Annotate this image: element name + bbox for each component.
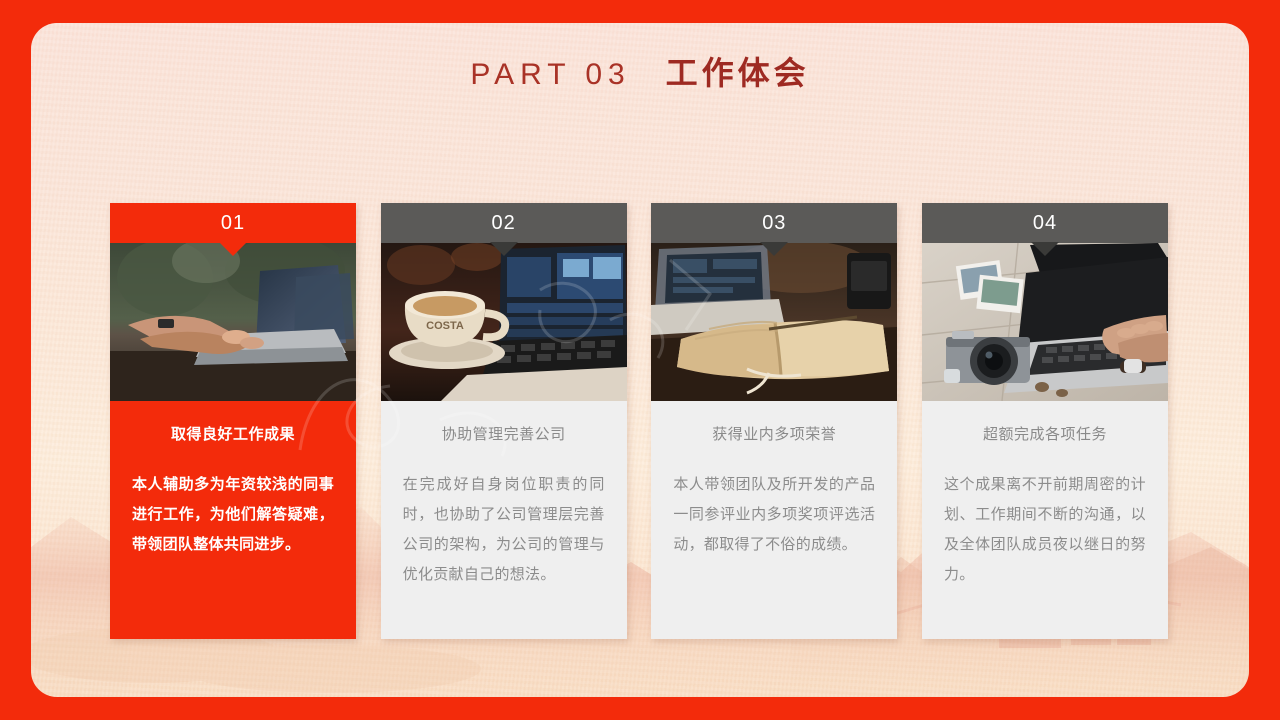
triangle-pointer-icon: [1031, 242, 1059, 256]
triangle-pointer-icon: [490, 242, 518, 256]
card-text-02: 在完成好自身岗位职责的同时，也协助了公司管理层完善公司的架构，为公司的管理与优化…: [399, 470, 609, 590]
card-header-04: 04: [922, 203, 1168, 243]
page-title: PART 03 工作体会: [0, 48, 1280, 94]
card-number-03: 03: [762, 212, 786, 234]
svg-text:COSTA: COSTA: [426, 320, 464, 332]
card-number-01: 01: [221, 212, 245, 234]
card-photo-02: COSTA: [381, 243, 627, 401]
card-body-01: 取得良好工作成果 本人辅助多为年资较浅的同事进行工作，为他们解答疑难，带领团队整…: [110, 401, 356, 639]
content-card-04[interactable]: 04: [922, 203, 1168, 639]
triangle-pointer-icon: [760, 242, 788, 256]
desk-with-camera-and-laptop-icon: [922, 243, 1168, 401]
title-english: PART 03: [470, 58, 630, 91]
slide-canvas: PART 03 工作体会 01: [0, 0, 1280, 720]
card-number-02: 02: [492, 212, 516, 234]
triangle-pointer-icon: [219, 242, 247, 256]
card-title-02: 协助管理完善公司: [399, 423, 609, 444]
content-card-02[interactable]: 02: [381, 203, 627, 639]
card-body-04: 超额完成各项任务 这个成果离不开前期周密的计划、工作期间不断的沟通，以及全体团队…: [922, 401, 1168, 639]
card-photo-01: [110, 243, 356, 401]
card-title-03: 获得业内多项荣誉: [669, 423, 879, 444]
content-card-01[interactable]: 01: [110, 203, 356, 639]
coffee-cup-and-laptop-icon: COSTA: [381, 243, 627, 401]
card-header-01: 01: [110, 203, 356, 243]
card-header-02: 02: [381, 203, 627, 243]
card-photo-04: [922, 243, 1168, 401]
card-title-04: 超额完成各项任务: [940, 423, 1150, 444]
content-card-03[interactable]: 03: [651, 203, 897, 639]
card-text-03: 本人带领团队及所开发的产品一同参评业内多项奖项评选活动，都取得了不俗的成绩。: [669, 470, 879, 560]
card-body-02: 协助管理完善公司 在完成好自身岗位职责的同时，也协助了公司管理层完善公司的架构，…: [381, 401, 627, 639]
card-header-03: 03: [651, 203, 897, 243]
hands-typing-on-laptop-icon: [110, 243, 356, 401]
card-number-04: 04: [1033, 212, 1057, 234]
notebook-on-desk-icon: [651, 243, 897, 401]
card-title-01: 取得良好工作成果: [128, 423, 338, 444]
title-chinese: 工作体会: [666, 55, 810, 91]
card-text-01: 本人辅助多为年资较浅的同事进行工作，为他们解答疑难，带领团队整体共同进步。: [128, 470, 338, 560]
card-row: 01: [110, 203, 1168, 639]
card-body-03: 获得业内多项荣誉 本人带领团队及所开发的产品一同参评业内多项奖项评选活动，都取得…: [651, 401, 897, 639]
card-text-04: 这个成果离不开前期周密的计划、工作期间不断的沟通，以及全体团队成员夜以继日的努力…: [940, 470, 1150, 590]
card-photo-03: [651, 243, 897, 401]
